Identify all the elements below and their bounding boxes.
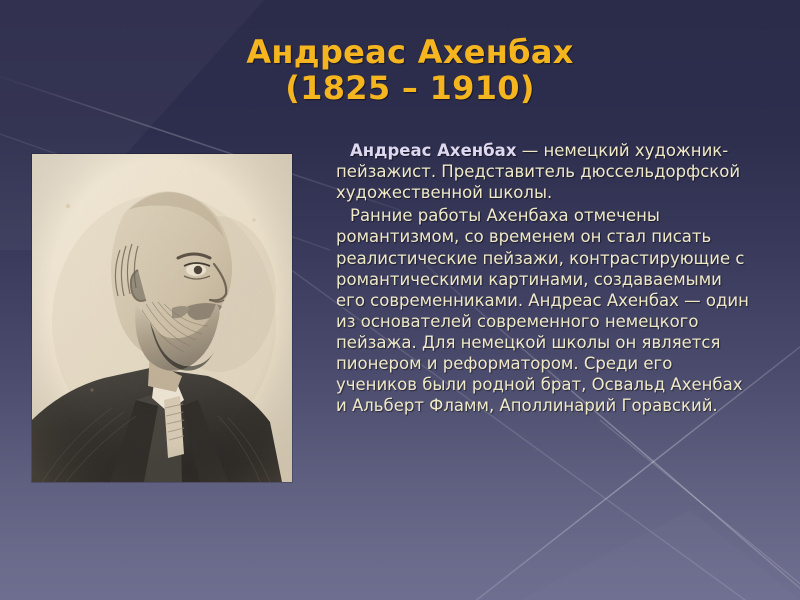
subject-name-lead: Андреас Ахенбах [350,141,516,160]
slide-title: Андреас Ахенбах (1825 – 1910) [60,34,760,106]
slide-body-text: Андреас Ахенбах — немецкий художник-пейз… [336,140,754,416]
portrait-engraving-graphic [32,154,292,482]
body-paragraph-1: Андреас Ахенбах — немецкий художник-пейз… [336,140,754,203]
portrait-image [32,154,292,482]
presentation-slide: Андреас Ахенбах (1825 – 1910) Андреас Ах… [0,0,800,600]
slide-title-line-1: Андреас Ахенбах [60,34,760,70]
slide-title-line-2: (1825 – 1910) [60,70,760,106]
body-paragraph-2: Ранние работы Ахенбаха отмечены романтиз… [336,205,754,416]
